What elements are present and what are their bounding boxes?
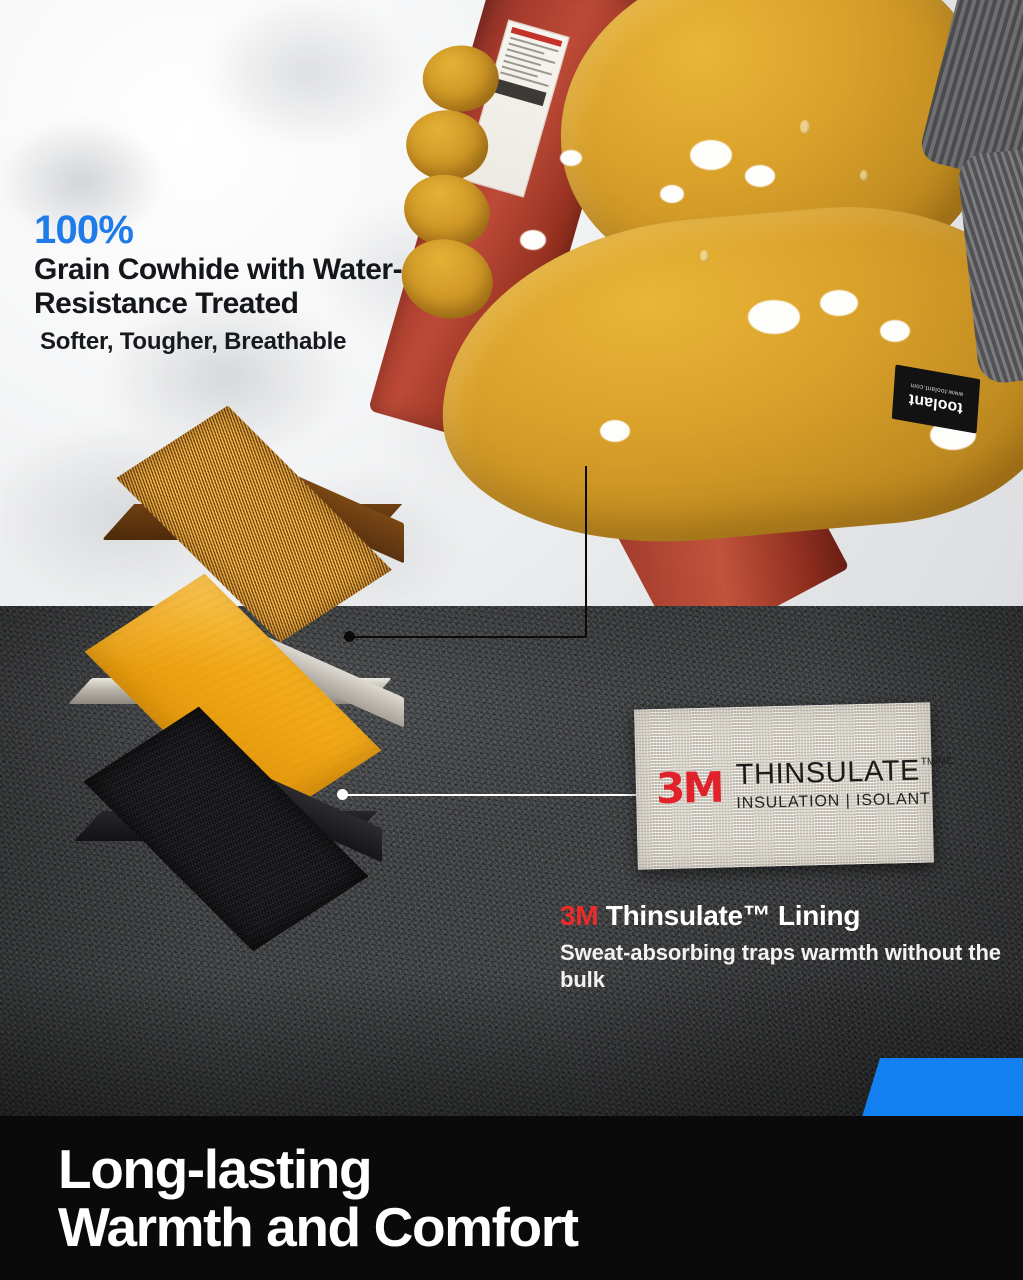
banner-line-2: Warmth and Comfort (58, 1198, 758, 1256)
thinsulate-label-brand: THINSULATE TM/MC (735, 756, 954, 790)
layer-thinsulate-insulation (72, 735, 382, 905)
callout-thinsulate-dot (337, 789, 348, 800)
snow-clump (660, 185, 684, 203)
snow-clump (600, 420, 630, 442)
callout-leather-horizontal (352, 636, 587, 638)
headline-block: 100% Grain Cowhide with Water-Resistance… (34, 210, 514, 357)
thinsulate-label-tm: TM/MC (921, 756, 954, 768)
snow-clump (880, 320, 910, 342)
product-infographic-poster: toolant www.toolant.com 100% Grain Cowhi… (0, 0, 1023, 1280)
water-droplet (860, 170, 868, 181)
snow-clump (745, 165, 775, 187)
banner-headline: Long-lasting Warmth and Comfort (58, 1140, 758, 1257)
callout-leather-dot (344, 631, 355, 642)
thinsulate-label-3m-logo: 3M (656, 767, 723, 811)
thinsulate-woven-label: 3M THINSULATE TM/MC INSULATION | ISOLANT (634, 702, 934, 869)
thinsulate-label-brand-text: THINSULATE (735, 757, 920, 790)
layer-suede-fleece (104, 430, 404, 600)
callout-leather-vertical (585, 466, 587, 638)
thinsulate-caption-body: Sweat-absorbing traps warmth without the… (560, 940, 1010, 993)
banner-line-1: Long-lasting (58, 1140, 758, 1198)
thinsulate-label-subtitle: INSULATION | ISOLANT (736, 790, 954, 813)
callout-thinsulate-horizontal (346, 794, 646, 796)
percent-callout: 100% (34, 210, 514, 251)
thinsulate-caption-title: 3M Thinsulate™ Lining (560, 900, 1010, 932)
page-title: Grain Cowhide with Water-Resistance Trea… (34, 253, 514, 321)
snow-clump (690, 140, 732, 170)
snow-clump (520, 230, 546, 250)
snow-clump (560, 150, 582, 166)
thinsulate-caption-3m: 3M (560, 900, 598, 931)
thinsulate-caption-title-rest: Thinsulate™ Lining (606, 900, 860, 931)
headline-subtitle: Softer, Tougher, Breathable (34, 328, 514, 357)
snow-clump (748, 300, 800, 334)
water-droplet (700, 250, 709, 262)
snow-clump (820, 290, 858, 316)
thinsulate-caption-block: 3M Thinsulate™ Lining Sweat-absorbing tr… (560, 900, 1010, 993)
water-droplet (800, 120, 810, 134)
